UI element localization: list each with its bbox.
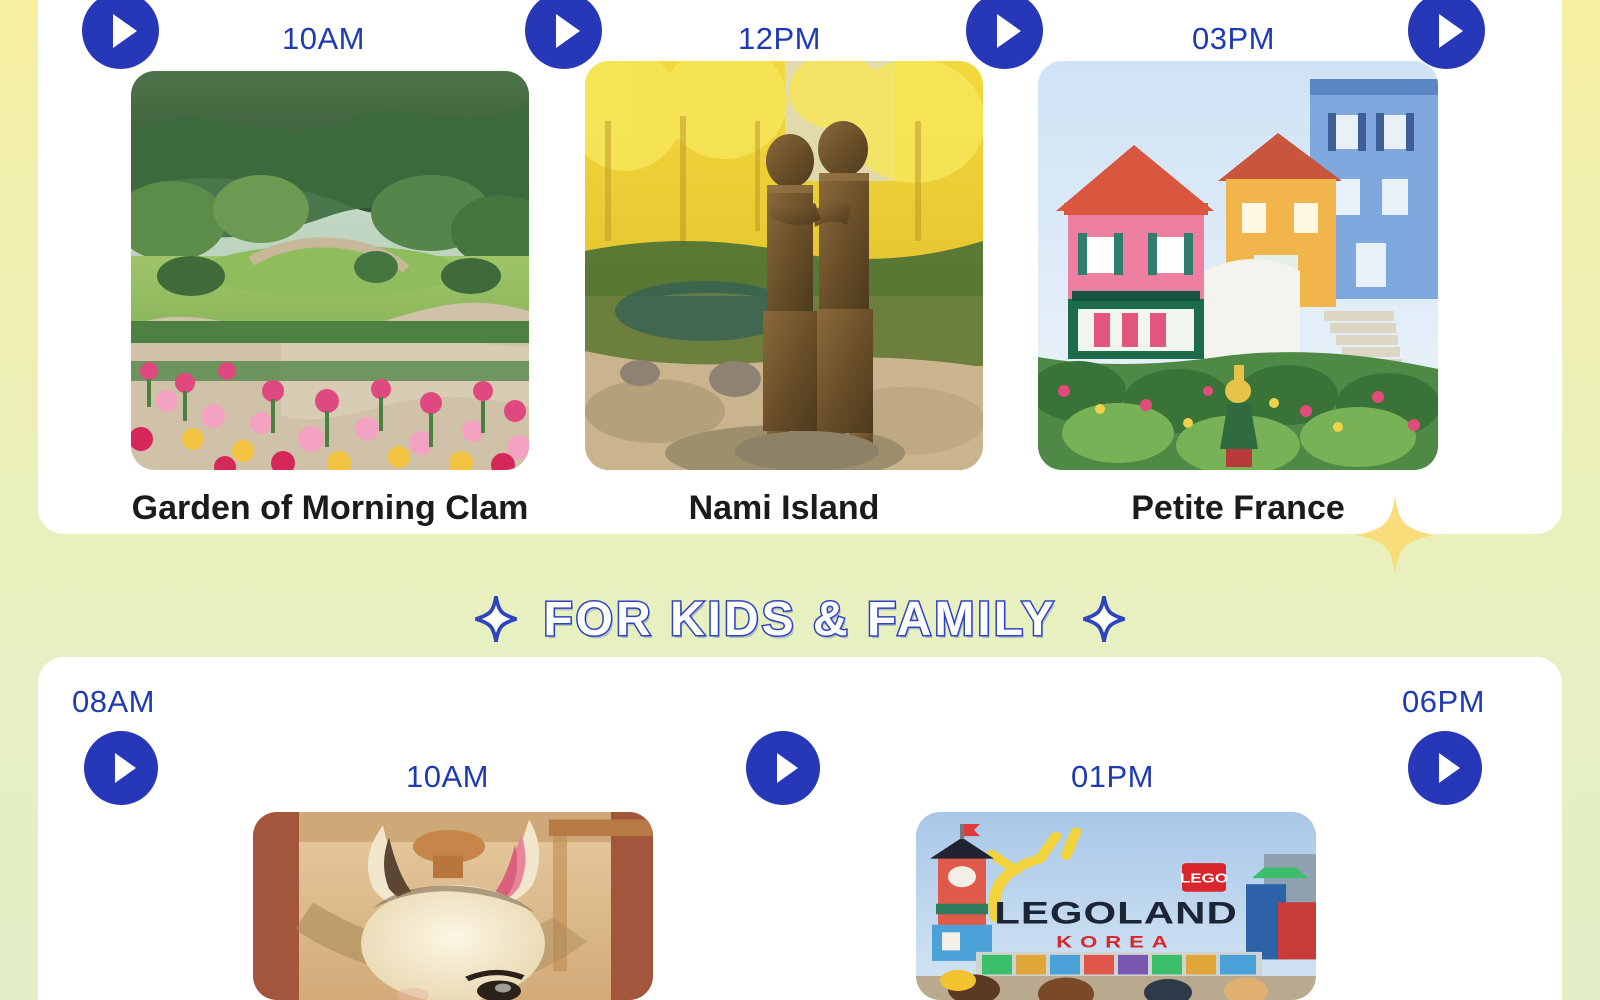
garden-of-morning-calm-image (131, 71, 529, 470)
play-button-6[interactable] (746, 731, 820, 805)
play-triangle-icon (556, 14, 580, 48)
time-label-family-1: 10AM (406, 759, 489, 795)
fennec-fox-image (253, 812, 653, 1000)
play-triangle-icon (1439, 14, 1463, 48)
sparkle-gold-icon (1356, 490, 1434, 580)
time-label-culture-1: 10AM (282, 21, 365, 57)
time-label-family-end: 06PM (1402, 684, 1485, 720)
time-label-culture-3: 03PM (1192, 21, 1275, 57)
play-triangle-icon (113, 14, 137, 48)
time-label-family-start: 08AM (72, 684, 155, 720)
play-button-5[interactable] (84, 731, 158, 805)
section-title-text: FOR KIDS & FAMILY (543, 592, 1056, 647)
thumbnail-nami-island[interactable] (585, 61, 983, 470)
place-title-1: Garden of Morning Clam (131, 489, 529, 528)
thumbnail-petite-france[interactable] (1038, 61, 1438, 470)
time-label-family-2: 01PM (1071, 759, 1154, 795)
play-triangle-icon (777, 753, 798, 783)
petite-france-image (1038, 61, 1438, 470)
svg-text:LEGOLAND: LEGOLAND (994, 894, 1238, 930)
legoland-korea-image: LEGO LEGOLAND KOREA (916, 812, 1316, 1000)
sparkle-star-icon-left (475, 596, 517, 642)
svg-text:LEGO: LEGO (1180, 872, 1228, 886)
nami-island-image (585, 61, 983, 470)
play-triangle-icon (997, 14, 1021, 48)
play-button-7[interactable] (1408, 731, 1482, 805)
play-triangle-icon (115, 753, 136, 783)
sparkle-star-icon-right (1083, 596, 1125, 642)
thumbnail-garden-of-morning-calm[interactable] (131, 71, 529, 470)
section-header-kids-and-family: FOR KIDS & FAMILY (0, 583, 1600, 655)
time-label-culture-2: 12PM (738, 21, 821, 57)
place-title-2: Nami Island (585, 489, 983, 528)
thumbnail-fennec-fox[interactable] (253, 812, 653, 1000)
play-triangle-icon (1439, 753, 1460, 783)
thumbnail-legoland-korea[interactable]: LEGO LEGOLAND KOREA (916, 812, 1316, 1000)
svg-text:KOREA: KOREA (1056, 933, 1175, 952)
